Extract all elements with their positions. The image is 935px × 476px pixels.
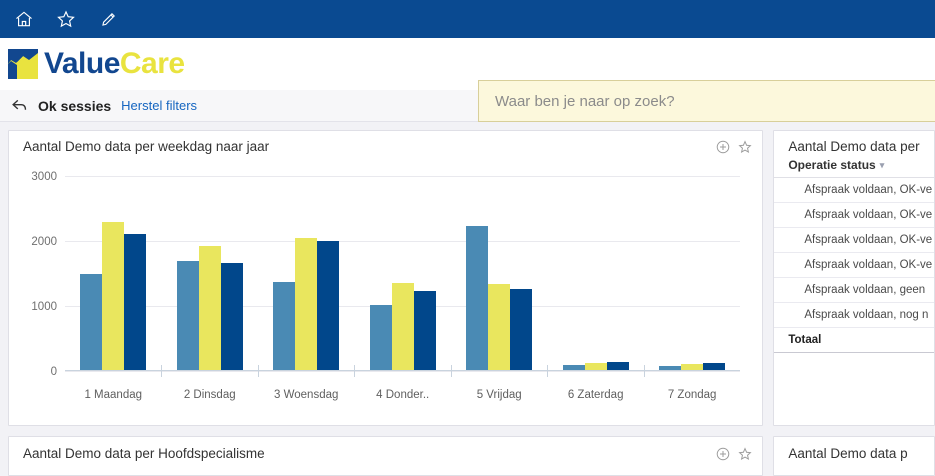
chart-bar[interactable] — [317, 241, 339, 371]
chart-y-tick-label: 3000 — [31, 171, 57, 183]
chart-panel: Aantal Demo data per weekdag naar jaar — [8, 130, 763, 426]
bottom-left-panel-actions — [716, 447, 752, 461]
chart-gridline: 0 — [65, 371, 740, 372]
chart-bar-group — [547, 176, 643, 371]
chart-x-tick-label: 6 Zaterdag — [547, 389, 643, 401]
star-icon[interactable] — [52, 5, 80, 33]
table-row[interactable]: Afspraak voldaan, OK-ve — [774, 203, 934, 228]
chart-panel-header: Aantal Demo data per weekdag naar jaar — [9, 131, 762, 156]
table-body: Afspraak voldaan, OK-veAfspraak voldaan,… — [774, 178, 934, 328]
sort-descending-icon[interactable]: ▾ — [880, 160, 885, 171]
pencil-icon[interactable] — [94, 5, 122, 33]
table-title: Aantal Demo data per O — [788, 139, 924, 154]
chart-bar-groups — [65, 176, 740, 371]
chart-x-tick-label: 5 Vrijdag — [451, 389, 547, 401]
bar-chart: 0100020003000 1 Maandag2 Dinsdag3 Woensd… — [21, 162, 750, 407]
top-navigation-bar — [0, 0, 935, 38]
chart-x-tick-label: 1 Maandag — [65, 389, 161, 401]
bottom-right-panel-title: Aantal Demo data p — [788, 446, 907, 461]
chart-title: Aantal Demo data per weekdag naar jaar — [23, 139, 269, 154]
table-row[interactable]: Afspraak voldaan, nog n — [774, 303, 934, 328]
chart-bar[interactable] — [273, 282, 295, 371]
logo[interactable]: ValueCare — [0, 49, 185, 79]
logo-text: ValueCare — [44, 49, 185, 79]
chart-bar-group — [354, 176, 450, 371]
table-column-header-operatie-status[interactable]: Operatie status ▾ — [774, 156, 934, 178]
chart-x-tick-labels: 1 Maandag2 Dinsdag3 Woensdag4 Donder..5 … — [65, 389, 740, 401]
table-column-header-label: Operatie status — [788, 158, 875, 172]
chart-y-tick-label: 1000 — [31, 301, 57, 313]
chart-bar[interactable] — [510, 289, 532, 371]
brand-header: ValueCare Waar ben je naar op zoek? — [0, 38, 935, 90]
chart-bar[interactable] — [488, 284, 510, 371]
chart-bar[interactable] — [370, 305, 392, 371]
table-row[interactable]: Afspraak voldaan, OK-ve — [774, 178, 934, 203]
logo-text-value: Value — [44, 47, 120, 80]
chart-bar[interactable] — [466, 226, 488, 371]
home-icon[interactable] — [10, 5, 38, 33]
table-panel: Aantal Demo data per O Operatie status ▾… — [773, 130, 935, 426]
chart-bar[interactable] — [221, 263, 243, 371]
chart-x-axis — [65, 370, 740, 371]
search-placeholder-text: Waar ben je naar op zoek? — [495, 93, 675, 110]
back-arrow-icon[interactable] — [10, 97, 28, 115]
chart-x-tick-label: 4 Donder.. — [354, 389, 450, 401]
star-outline-icon[interactable] — [738, 140, 752, 154]
chart-y-tick-label: 2000 — [31, 236, 57, 248]
chart-bar[interactable] — [124, 234, 146, 371]
chart-bar-group — [644, 176, 740, 371]
chart-x-tick-label: 7 Zondag — [644, 389, 740, 401]
page-title: Ok sessies — [38, 98, 111, 114]
chart-x-tick-label: 2 Dinsdag — [161, 389, 257, 401]
chart-bar-group — [161, 176, 257, 371]
chart-x-tick-label: 3 Woensdag — [258, 389, 354, 401]
table-panel-header: Aantal Demo data per O — [774, 131, 934, 156]
dashboard-grid: Aantal Demo data per weekdag naar jaar — [0, 122, 935, 462]
search-input[interactable]: Waar ben je naar op zoek? — [478, 80, 935, 122]
bottom-right-panel-header: Aantal Demo data p — [774, 437, 934, 461]
table-row[interactable]: Afspraak voldaan, OK-ve — [774, 253, 934, 278]
chart-y-tick-label: 0 — [51, 366, 57, 378]
valuecare-logo-icon — [8, 49, 38, 79]
dashboard-row-1: Aantal Demo data per weekdag naar jaar — [8, 130, 935, 426]
chart-bar[interactable] — [199, 246, 221, 371]
chart-bar-group — [65, 176, 161, 371]
bottom-left-panel-title: Aantal Demo data per Hoofdspecialisme — [23, 446, 265, 461]
bottom-left-panel: Aantal Demo data per Hoofdspecialisme — [8, 436, 763, 476]
table-row-total: Totaal — [774, 328, 934, 353]
chart-bar[interactable] — [177, 261, 199, 371]
table-row[interactable]: Afspraak voldaan, geen — [774, 278, 934, 303]
bottom-right-panel: Aantal Demo data p — [773, 436, 935, 476]
chart-panel-actions — [716, 140, 752, 154]
chart-bar[interactable] — [80, 274, 102, 372]
chart-bar-group — [451, 176, 547, 371]
star-outline-icon[interactable] — [738, 447, 752, 461]
table-row[interactable]: Afspraak voldaan, OK-ve — [774, 228, 934, 253]
dashboard-row-2: Aantal Demo data per Hoofdspecialisme — [8, 436, 935, 476]
plus-circle-icon[interactable] — [716, 140, 730, 154]
chart-bar[interactable] — [414, 291, 436, 371]
logo-text-care: Care — [120, 47, 185, 80]
reset-filters-link[interactable]: Herstel filters — [121, 98, 197, 113]
chart-plot-area: 0100020003000 — [65, 176, 740, 371]
chart-bar-group — [258, 176, 354, 371]
chart-bar[interactable] — [392, 283, 414, 371]
plus-circle-icon[interactable] — [716, 447, 730, 461]
chart-bar[interactable] — [102, 222, 124, 371]
chart-bar[interactable] — [295, 238, 317, 371]
bottom-left-panel-header: Aantal Demo data per Hoofdspecialisme — [9, 437, 762, 461]
